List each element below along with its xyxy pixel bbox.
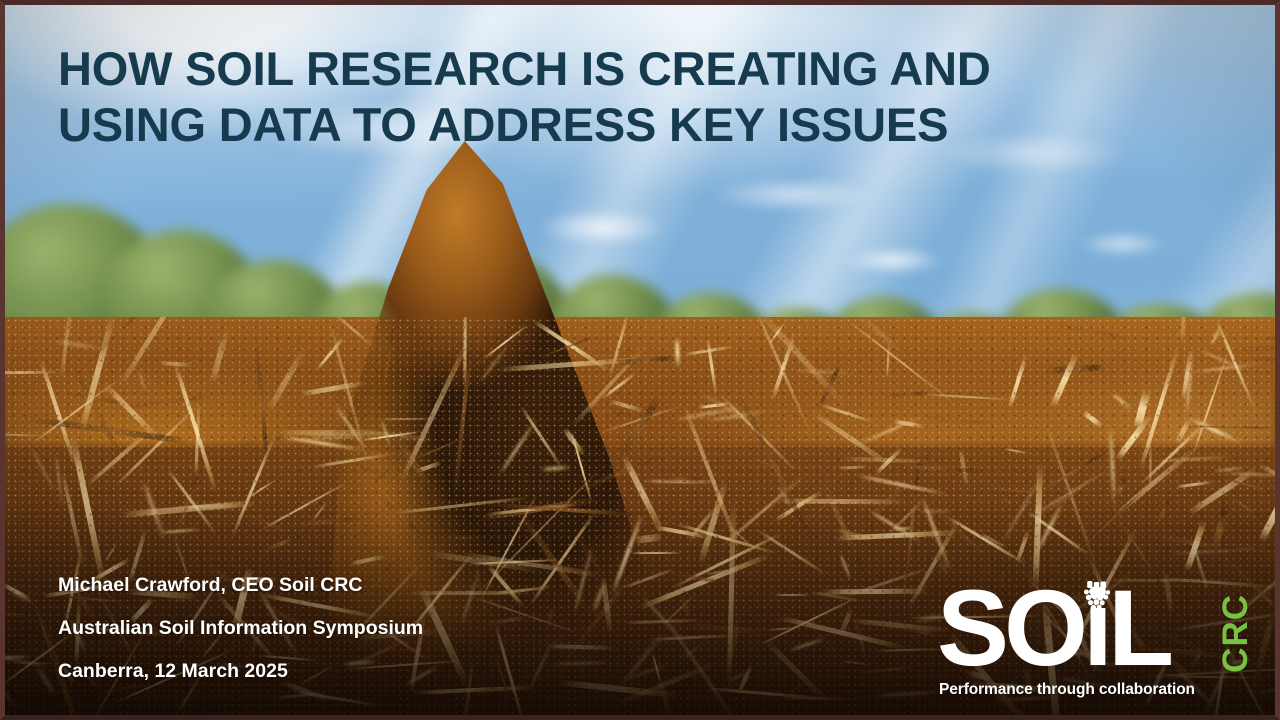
byline-presenter: Michael Crawford, CEO Soil CRC — [58, 564, 678, 607]
logo-text-l: L — [1108, 585, 1169, 671]
logo-letter-i-group: i — [1083, 585, 1108, 671]
presentation-slide: HOW SOIL RESEARCH IS CREATING AND USING … — [0, 0, 1280, 720]
byline-location-date: Canberra, 12 March 2025 — [58, 650, 678, 693]
slide-title: HOW SOIL RESEARCH IS CREATING AND USING … — [58, 41, 1118, 153]
soil-crc-logo: SO i — [937, 559, 1255, 701]
logo-wordmark: SO i — [937, 567, 1169, 671]
presenter-byline: Michael Crawford, CEO Soil CRC Australia… — [58, 564, 678, 693]
logo-text-so: SO — [937, 585, 1083, 671]
logo-tagline: Performance through collaboration — [939, 681, 1195, 699]
logo-text-crc: CRC — [1218, 594, 1253, 673]
soil-aggregate-dot-icon — [1082, 581, 1112, 613]
byline-event: Australian Soil Information Symposium — [58, 607, 678, 650]
